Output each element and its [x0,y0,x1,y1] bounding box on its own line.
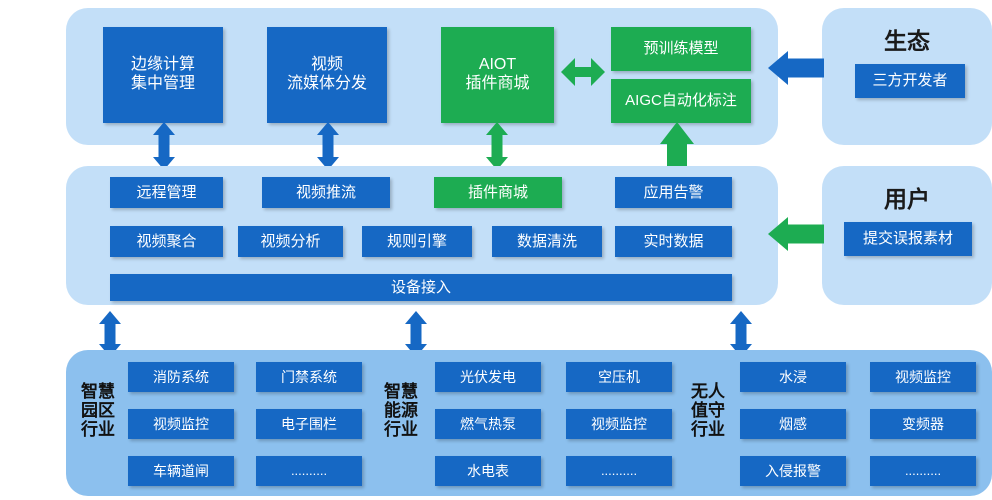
box-energy-air-compressor[interactable]: 空压机 [566,362,672,392]
arrow-ecosystem-to-platform [768,48,824,88]
arrow-edge-to-platform [152,122,176,170]
box-unattended-smoke-sensor[interactable]: 烟感 [740,409,846,439]
industry-label-smart-park: 智慧 园区 行业 [72,382,124,439]
edge-compute-line2: 集中管理 [131,75,195,94]
box-application-alarm[interactable]: 应用告警 [615,177,732,208]
box-video-aggregation[interactable]: 视频聚合 [110,226,223,257]
box-video-push[interactable]: 视频推流 [262,177,390,208]
box-energy-more[interactable]: .......... [566,456,672,486]
architecture-diagram: 边缘计算 集中管理 视频 流媒体分发 AIOT 插件商城 预训练模型 AIGC自… [0,0,992,500]
box-rule-engine[interactable]: 规则引擎 [362,226,472,257]
ecosystem-panel: 生态 三方开发者 [822,8,992,145]
users-panel: 用户 提交误报素材 [822,166,992,305]
box-unattended-more[interactable]: .......... [870,456,976,486]
video-stream-line1: 视频 [287,56,367,75]
box-park-video-monitor[interactable]: 视频监控 [128,409,234,439]
box-device-access[interactable]: 设备接入 [110,274,732,301]
arrow-users-to-platform [768,214,824,254]
box-park-electronic-fence[interactable]: 电子围栏 [256,409,362,439]
box-energy-water-meter[interactable]: 水电表 [435,456,541,486]
box-aigc-auto-label[interactable]: AIGC自动化标注 [611,79,751,123]
box-unattended-video-monitor[interactable]: 视频监控 [870,362,976,392]
edge-compute-line1: 边缘计算 [131,56,195,75]
box-park-access-control[interactable]: 门禁系统 [256,362,362,392]
arrow-alarm-to-aigc [660,122,694,170]
box-video-stream[interactable]: 视频 流媒体分发 [267,27,387,123]
box-unattended-inverter[interactable]: 变频器 [870,409,976,439]
box-edge-compute[interactable]: 边缘计算 集中管理 [103,27,223,123]
box-aiot-store[interactable]: AIOT 插件商城 [441,27,554,123]
box-realtime-data[interactable]: 实时数据 [615,226,732,257]
aiot-store-line2: 插件商城 [465,75,529,94]
box-video-analysis[interactable]: 视频分析 [238,226,343,257]
box-park-fire-system[interactable]: 消防系统 [128,362,234,392]
box-submit-false-alarm[interactable]: 提交误报素材 [844,222,972,256]
box-third-party-developer[interactable]: 三方开发者 [855,64,965,98]
box-plugin-store[interactable]: 插件商城 [434,177,562,208]
box-park-more[interactable]: .......... [256,456,362,486]
box-energy-pv-power[interactable]: 光伏发电 [435,362,541,392]
arrow-video-to-platform [316,122,340,170]
box-unattended-intrusion-alarm[interactable]: 入侵报警 [740,456,846,486]
aiot-store-line1: AIOT [465,56,529,75]
box-energy-video-monitor[interactable]: 视频监控 [566,409,672,439]
box-park-vehicle-barrier[interactable]: 车辆道闸 [128,456,234,486]
video-stream-line2: 流媒体分发 [287,75,367,94]
ecosystem-title: 生态 [822,22,992,56]
arrow-aiot-to-plugin-store [485,122,509,170]
box-unattended-water-leak[interactable]: 水浸 [740,362,846,392]
industry-label-smart-energy: 智慧 能源 行业 [375,382,427,439]
users-title: 用户 [822,180,992,214]
box-pretrained-model[interactable]: 预训练模型 [611,27,751,71]
box-energy-gas-heat-pump[interactable]: 燃气热泵 [435,409,541,439]
arrow-aiot-to-models [561,58,605,86]
box-data-cleaning[interactable]: 数据清洗 [492,226,602,257]
industry-label-unattended: 无人 值守 行业 [682,382,734,439]
box-remote-management[interactable]: 远程管理 [110,177,223,208]
